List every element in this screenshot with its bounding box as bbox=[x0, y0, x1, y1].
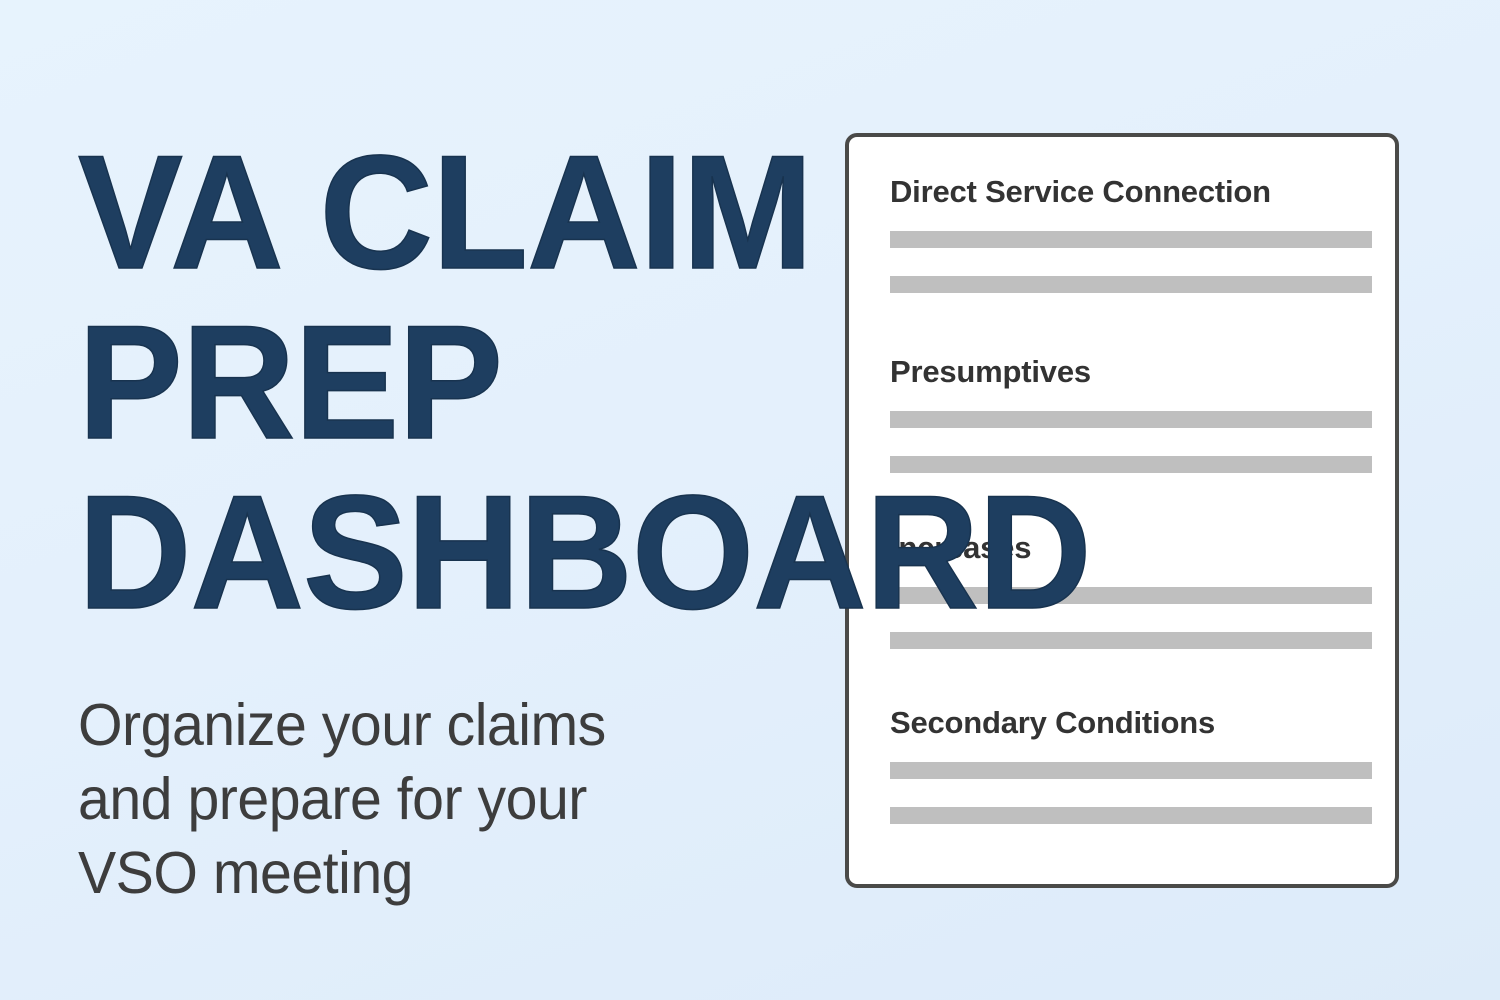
doc-section-title-secondary-conditions: Secondary Conditions bbox=[890, 706, 1372, 740]
doc-placeholder-line bbox=[890, 231, 1372, 248]
doc-section-secondary-conditions: Secondary Conditions bbox=[890, 706, 1372, 824]
page-title-line-2: PREP bbox=[78, 298, 951, 468]
page-title-line-3: DASHBOARD bbox=[78, 468, 951, 638]
hero-copy-block: VA CLAIM PREP DASHBOARD Organize your cl… bbox=[78, 128, 978, 910]
doc-section-title-presumptives: Presumptives bbox=[890, 355, 1372, 389]
doc-section-title-direct-service-connection: Direct Service Connection bbox=[890, 175, 1372, 209]
doc-placeholder-line bbox=[890, 276, 1372, 293]
page-title-line-1: VA CLAIM bbox=[78, 128, 951, 298]
doc-placeholder-line bbox=[890, 411, 1372, 428]
doc-section-direct-service-connection: Direct Service Connection bbox=[890, 175, 1372, 293]
doc-section-presumptives: Presumptives bbox=[890, 355, 1372, 473]
promo-graphic-canvas: Direct Service Connection Presumptives I… bbox=[0, 0, 1500, 1000]
doc-placeholder-line bbox=[890, 807, 1372, 824]
page-title: VA CLAIM PREP DASHBOARD bbox=[78, 128, 951, 638]
page-subtitle: Organize your claims and prepare for you… bbox=[78, 638, 699, 910]
doc-placeholder-line bbox=[890, 762, 1372, 779]
doc-placeholder-lines bbox=[890, 231, 1372, 293]
doc-placeholder-lines bbox=[890, 762, 1372, 824]
